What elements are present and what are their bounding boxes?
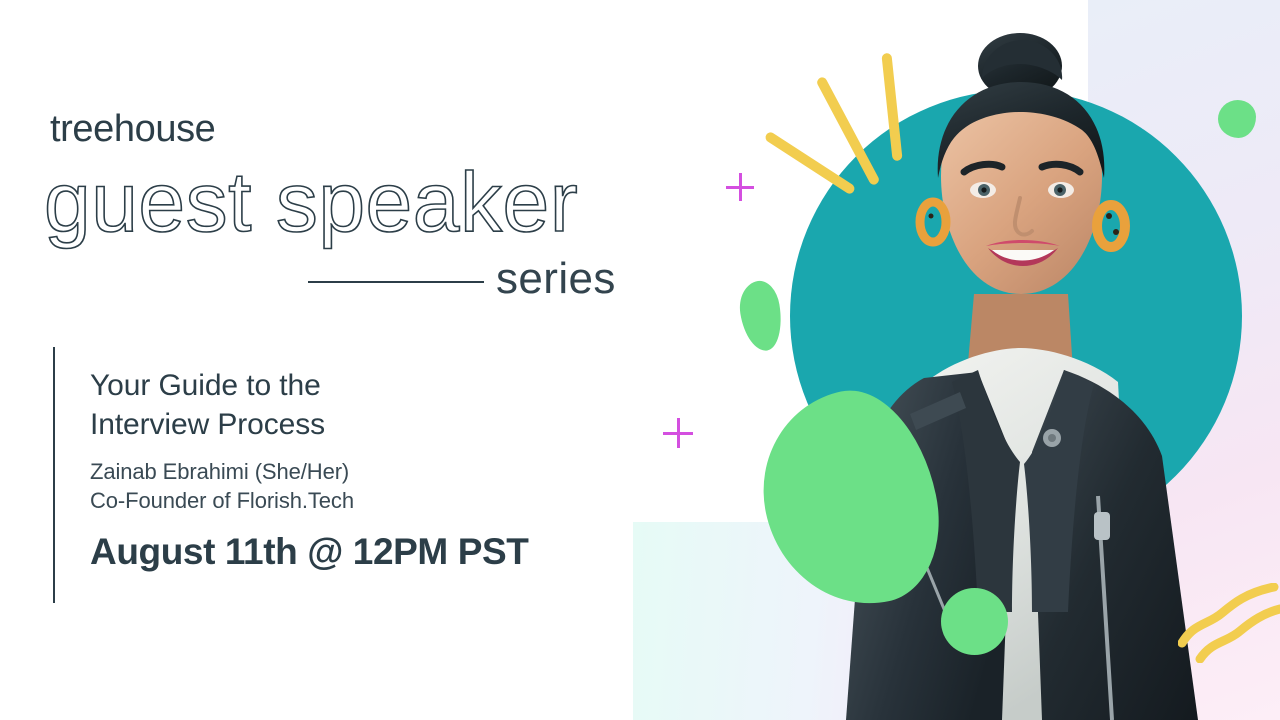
talk-title: Your Guide to the Interview Process xyxy=(90,366,630,444)
speaker-name: Zainab Ebrahimi (She/Her) xyxy=(90,457,630,486)
vertical-accent-rule xyxy=(53,347,55,603)
event-datetime: August 11th @ 12PM PST xyxy=(90,532,630,573)
talk-details: Your Guide to the Interview Process Zain… xyxy=(90,366,630,572)
content-layer: treehouse guest speaker series Your Guid… xyxy=(0,0,1280,720)
brand-wordmark: treehouse xyxy=(50,110,215,148)
headline-outline-text: guest speaker xyxy=(44,158,578,246)
promo-graphic: treehouse guest speaker series Your Guid… xyxy=(0,0,1280,720)
headline-series-text: series xyxy=(496,257,616,301)
headline-divider-rule xyxy=(308,281,484,283)
speaker-role: Co-Founder of Florish.Tech xyxy=(90,486,630,515)
